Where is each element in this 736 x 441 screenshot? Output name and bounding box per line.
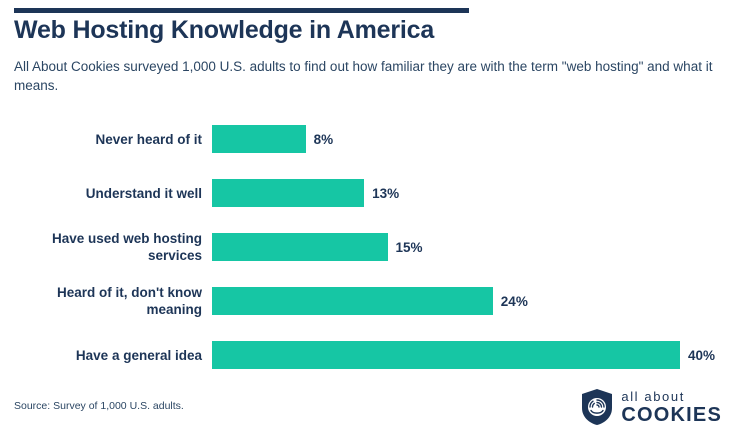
bar-category-label: Never heard of it bbox=[14, 131, 212, 148]
bar-track: 24% bbox=[212, 274, 722, 328]
bar-chart: Never heard of it8%Understand it well13%… bbox=[14, 112, 722, 382]
brand-wordmark: all about COOKIES bbox=[621, 390, 722, 425]
bar-track: 8% bbox=[212, 112, 722, 166]
bar-category-label: Have used web hosting services bbox=[14, 230, 212, 264]
bar-row: Never heard of it8% bbox=[14, 112, 722, 166]
infographic-page: Web Hosting Knowledge in America All Abo… bbox=[0, 0, 736, 441]
page-title: Web Hosting Knowledge in America bbox=[14, 16, 434, 45]
bar-row: Understand it well13% bbox=[14, 166, 722, 220]
bar-category-label: Have a general idea bbox=[14, 347, 212, 364]
bar-category-label: Heard of it, don't know meaning bbox=[14, 284, 212, 318]
bar-value-label: 24% bbox=[501, 294, 528, 309]
source-note: Source: Survey of 1,000 U.S. adults. bbox=[14, 400, 184, 412]
bar bbox=[212, 287, 493, 315]
header-rule bbox=[14, 8, 469, 13]
bar bbox=[212, 233, 388, 261]
bar-value-label: 15% bbox=[396, 240, 423, 255]
bar-row: Have a general idea40% bbox=[14, 328, 722, 382]
bar-value-label: 40% bbox=[688, 348, 715, 363]
bar-track: 15% bbox=[212, 220, 722, 274]
bar bbox=[212, 125, 306, 153]
bar bbox=[212, 341, 680, 369]
bar-row: Have used web hosting services15% bbox=[14, 220, 722, 274]
bar-category-label: Understand it well bbox=[14, 185, 212, 202]
bar-row: Heard of it, don't know meaning24% bbox=[14, 274, 722, 328]
brand-line-1: all about bbox=[621, 390, 722, 403]
brand-logo: all about COOKIES bbox=[580, 388, 722, 426]
bar bbox=[212, 179, 364, 207]
brand-line-2: COOKIES bbox=[621, 405, 722, 425]
shield-fingerprint-icon bbox=[580, 388, 614, 426]
bar-track: 40% bbox=[212, 328, 722, 382]
bar-track: 13% bbox=[212, 166, 722, 220]
page-subtitle: All About Cookies surveyed 1,000 U.S. ad… bbox=[14, 57, 714, 95]
bar-value-label: 8% bbox=[314, 132, 334, 147]
bar-value-label: 13% bbox=[372, 186, 399, 201]
